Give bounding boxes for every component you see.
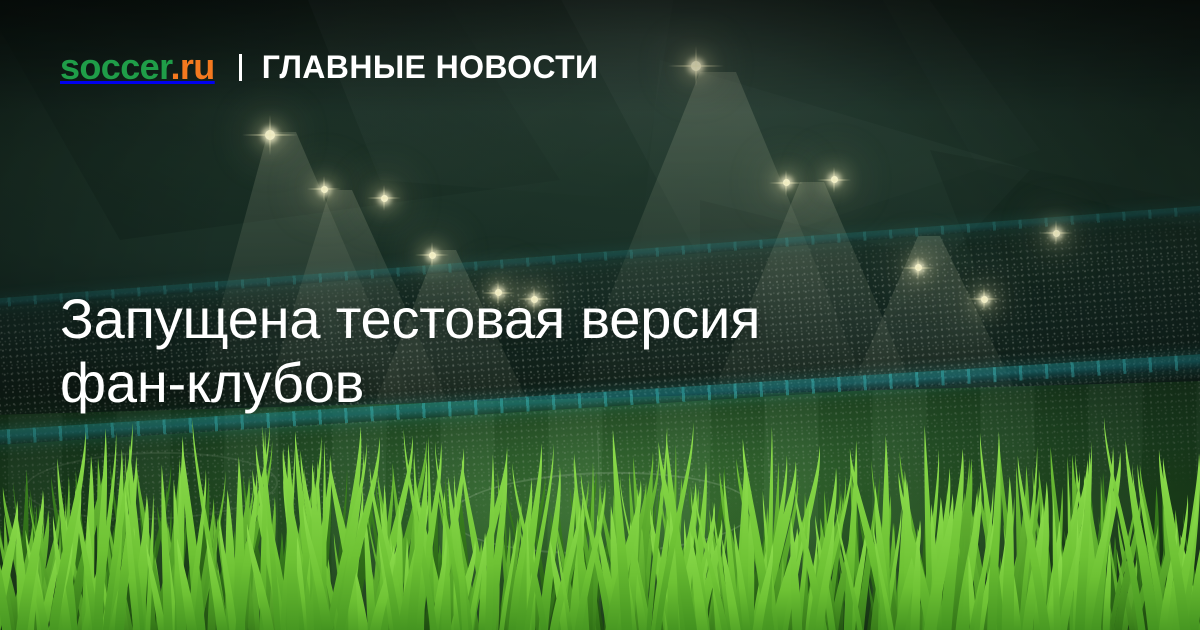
headline-line-2: фан-клубов: [60, 351, 920, 416]
banner-header: soccer.ru ГЛАВНЫЕ НОВОСТИ: [60, 49, 598, 85]
header-kicker: ГЛАВНЫЕ НОВОСТИ: [262, 51, 599, 83]
headline-line-1: Запущена тестовая версия: [60, 287, 920, 352]
banner-content: soccer.ru ГЛАВНЫЕ НОВОСТИ Запущена тесто…: [0, 0, 1200, 630]
news-share-banner: soccer.ru ГЛАВНЫЕ НОВОСТИ Запущена тесто…: [0, 0, 1200, 630]
soccer-ru-logo[interactable]: soccer.ru: [60, 49, 215, 85]
header-divider-icon: [239, 54, 242, 81]
logo-tld: .ru: [171, 46, 215, 87]
page-title: Запущена тестовая версия фан-клубов: [60, 287, 920, 417]
logo-name: soccer: [60, 46, 171, 87]
